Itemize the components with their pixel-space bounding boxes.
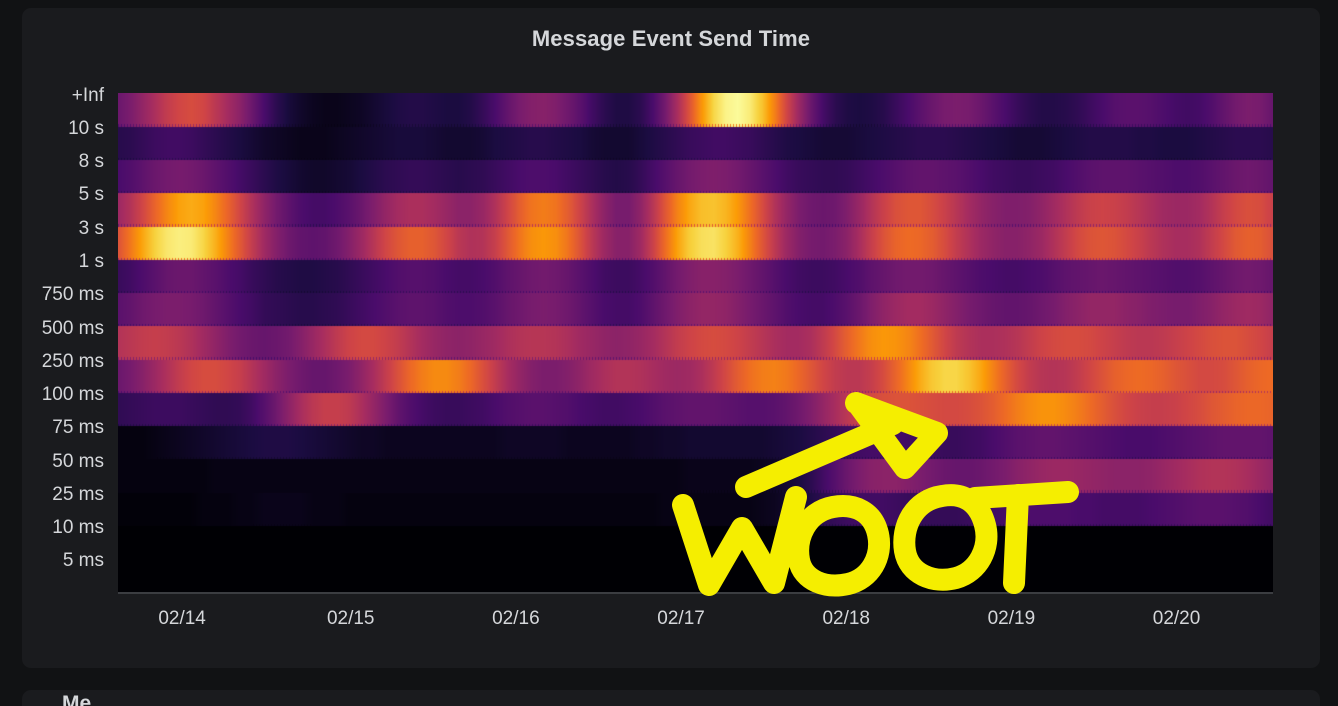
y-axis-tick-label: 8 s [79, 151, 104, 173]
x-axis-tick-label: 02/18 [822, 608, 870, 630]
x-axis-tick-label: 02/20 [1153, 608, 1201, 630]
y-axis-tick-label: 500 ms [42, 318, 104, 340]
y-axis-tick-label: 1 s [79, 251, 104, 273]
x-axis-tick-label: 02/14 [158, 608, 206, 630]
y-axis-tick-label: 10 ms [52, 517, 104, 539]
x-axis: 02/1402/1502/1602/1702/1802/1902/20 [118, 600, 1273, 640]
y-axis-tick-label: 100 ms [42, 384, 104, 406]
x-axis-tick-label: 02/17 [657, 608, 705, 630]
y-axis-tick-label: 5 s [79, 184, 104, 206]
y-axis-tick-label: 75 ms [52, 417, 104, 439]
heatmap-panel: Message Event Send Time +Inf10 s8 s5 s3 … [22, 8, 1320, 668]
x-axis-tick-label: 02/19 [988, 608, 1036, 630]
y-axis-tick-label: 25 ms [52, 484, 104, 506]
y-axis-tick-label: 50 ms [52, 451, 104, 473]
x-axis-tick-label: 02/15 [327, 608, 375, 630]
y-axis-tick-label: 750 ms [42, 284, 104, 306]
heatmap-canvas[interactable] [118, 93, 1273, 592]
y-axis-tick-label: 250 ms [42, 351, 104, 373]
next-panel-peek[interactable]: Me [22, 690, 1320, 706]
y-axis-tick-label: 3 s [79, 218, 104, 240]
heatmap-plot-area[interactable] [118, 93, 1273, 592]
x-axis-line [118, 592, 1273, 594]
y-axis-tick-label: 5 ms [63, 550, 104, 572]
y-axis-tick-label: 10 s [68, 118, 104, 140]
dashboard-root: Message Event Send Time +Inf10 s8 s5 s3 … [0, 0, 1338, 706]
next-panel-title: Me [62, 692, 91, 706]
y-axis: +Inf10 s8 s5 s3 s1 s750 ms500 ms250 ms10… [22, 93, 112, 592]
y-axis-tick-label: +Inf [72, 85, 104, 107]
page-title: Message Event Send Time [22, 26, 1320, 52]
x-axis-tick-label: 02/16 [492, 608, 540, 630]
